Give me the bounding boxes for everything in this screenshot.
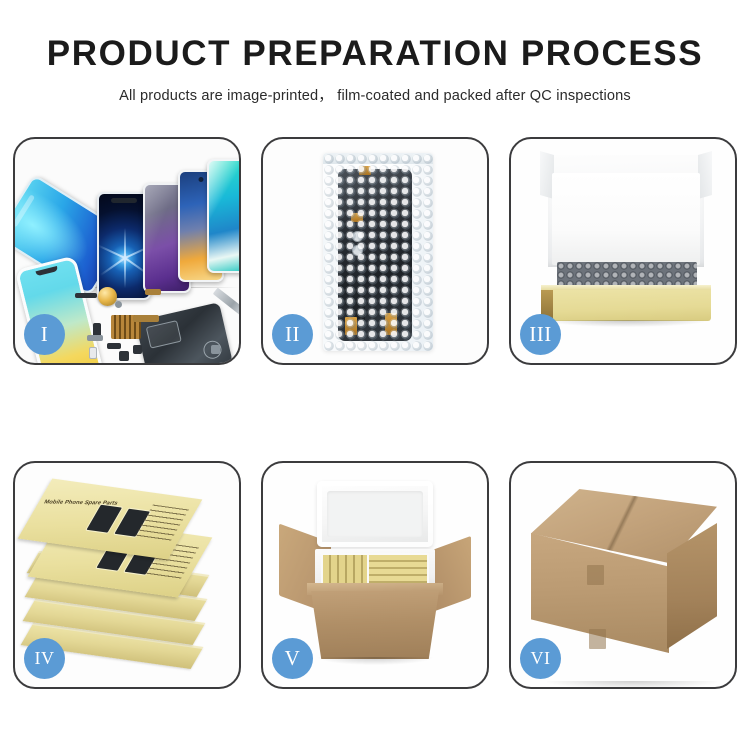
tape-patch-icon bbox=[589, 629, 606, 649]
panel-step-2: II bbox=[261, 137, 489, 365]
panel-step-5: V bbox=[261, 461, 489, 689]
step-badge-3: III bbox=[520, 314, 561, 355]
carton-body-icon bbox=[311, 591, 439, 659]
page-title: PRODUCT PREPARATION PROCESS bbox=[0, 36, 750, 73]
page-subtitle: All products are image-printed， film-coa… bbox=[0, 84, 750, 105]
small-part-icon bbox=[133, 345, 142, 354]
small-part-icon bbox=[89, 347, 97, 359]
tape-patch-icon bbox=[587, 565, 604, 585]
notch-icon bbox=[36, 266, 59, 276]
step-badge-1: I bbox=[24, 314, 65, 355]
step-badge-5: V bbox=[272, 638, 313, 679]
small-part-icon bbox=[211, 345, 220, 354]
flex-cable-icon bbox=[133, 315, 159, 322]
small-part-icon bbox=[107, 343, 121, 349]
burst-ray-icon bbox=[124, 228, 126, 258]
step-badge-6: VI bbox=[520, 638, 561, 679]
panel-step-3: III bbox=[509, 137, 737, 365]
header: PRODUCT PREPARATION PROCESS All products… bbox=[0, 36, 750, 105]
panel-step-4: Mobile Phone Spare Parts Mobile Phone Sp… bbox=[13, 461, 241, 689]
sealed-carton-icon bbox=[531, 489, 717, 659]
yellow-box-front-icon bbox=[541, 290, 711, 321]
step-badge-2: II bbox=[272, 314, 313, 355]
small-part-icon bbox=[119, 351, 129, 361]
bubble-texture-icon bbox=[323, 153, 433, 351]
small-part-icon bbox=[75, 293, 97, 298]
notch-icon bbox=[111, 198, 137, 203]
burst-ray-icon bbox=[97, 245, 125, 259]
step-badge-4: IV bbox=[24, 638, 65, 679]
burst-ray-icon bbox=[124, 258, 126, 288]
drop-shadow bbox=[317, 657, 433, 665]
teal-phone-screen-icon bbox=[207, 159, 239, 273]
panel-step-1: I bbox=[13, 137, 241, 365]
process-step-grid: I II bbox=[13, 137, 737, 689]
small-part-icon bbox=[87, 335, 103, 341]
product-preparation-infographic: PRODUCT PREPARATION PROCESS All products… bbox=[0, 0, 750, 750]
panel-step-6: VI bbox=[509, 461, 737, 689]
bubble-wrap-bag-icon bbox=[323, 153, 433, 351]
foam-pad-icon bbox=[552, 173, 700, 265]
punch-hole-camera-icon bbox=[199, 177, 204, 182]
drop-shadow bbox=[545, 320, 709, 327]
small-part-icon bbox=[115, 301, 122, 308]
burst-ray-icon bbox=[100, 258, 126, 277]
small-part-icon bbox=[145, 289, 161, 295]
styrofoam-lid-icon bbox=[317, 481, 433, 547]
drop-shadow bbox=[547, 681, 717, 687]
